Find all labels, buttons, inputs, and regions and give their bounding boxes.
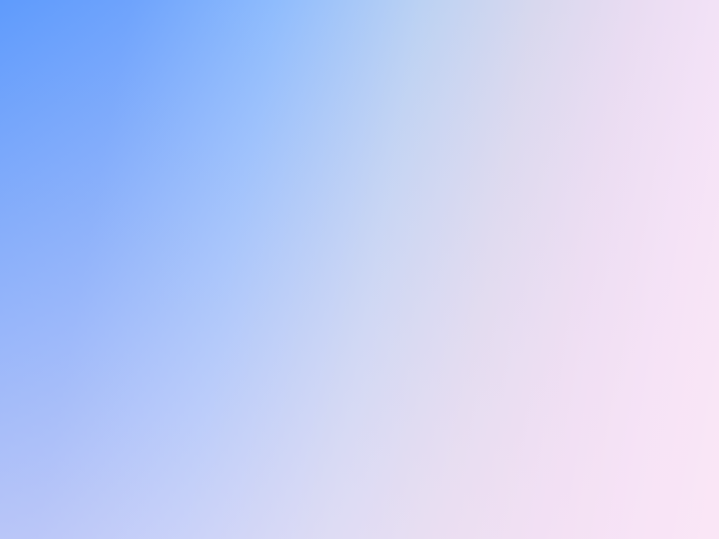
slide-canvas (0, 0, 719, 539)
slide-body (52, 118, 692, 134)
